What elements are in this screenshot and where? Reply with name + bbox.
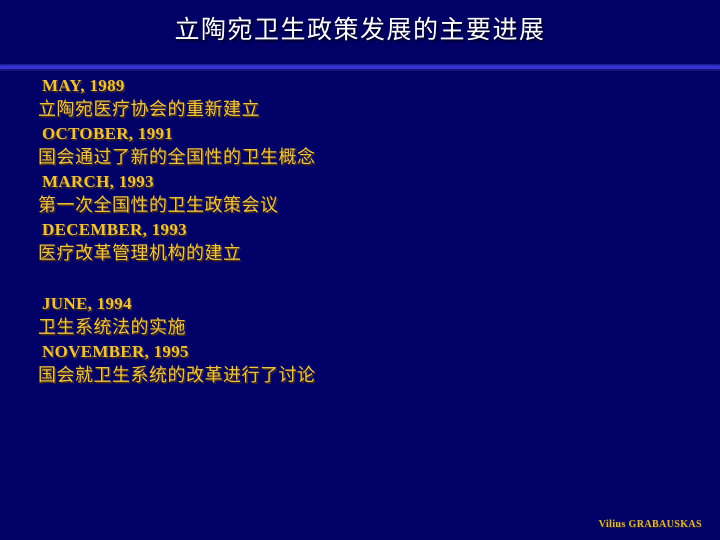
list-spacer — [36, 266, 676, 292]
list-item-description: 第一次全国性的卫生政策会议 — [36, 194, 676, 218]
title-divider-rule — [0, 64, 720, 71]
list-item-date: OCTOBER, 1991 — [36, 122, 676, 146]
list-item-description: 国会就卫生系统的改革进行了讨论 — [36, 364, 676, 388]
presentation-slide: 立陶宛卫生政策发展的主要进展 MAY, 1989 立陶宛医疗协会的重新建立 OC… — [0, 0, 720, 540]
list-item-date: NOVEMBER, 1995 — [36, 340, 676, 364]
list-item-date: MARCH, 1993 — [36, 170, 676, 194]
list-item-description: 立陶宛医疗协会的重新建立 — [36, 98, 676, 122]
list-item-description: 卫生系统法的实施 — [36, 316, 676, 340]
slide-footer-author: Vilius GRABAUSKAS — [599, 519, 702, 530]
list-item-description: 国会通过了新的全国性的卫生概念 — [36, 146, 676, 170]
list-item-date: JUNE, 1994 — [36, 292, 676, 316]
list-item-description: 医疗改革管理机构的建立 — [36, 242, 676, 266]
slide-title-area: 立陶宛卫生政策发展的主要进展 — [0, 6, 720, 50]
list-item-date: DECEMBER, 1993 — [36, 218, 676, 242]
list-item-date: MAY, 1989 — [36, 74, 676, 98]
page-title: 立陶宛卫生政策发展的主要进展 — [174, 10, 545, 46]
timeline-list: MAY, 1989 立陶宛医疗协会的重新建立 OCTOBER, 1991 国会通… — [36, 74, 676, 388]
divider-edge-bottom — [0, 69, 720, 71]
